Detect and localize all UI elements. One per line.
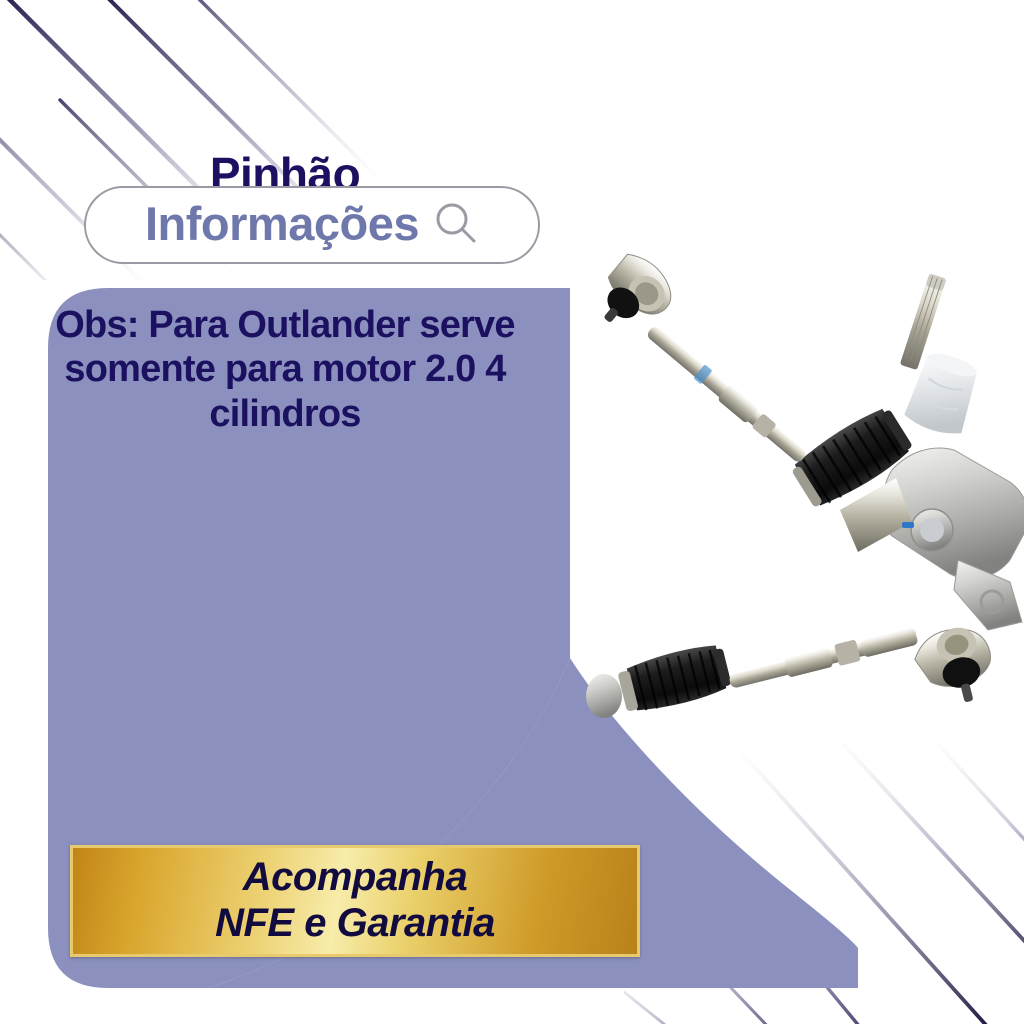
promo-card: Informações — [0, 0, 1024, 1024]
gold-banner-text: Acompanha NFE e Garantia — [215, 855, 495, 946]
magnifier-icon — [433, 201, 479, 252]
product-note: Obs: Para Outlander serve somente para m… — [0, 303, 570, 435]
informacoes-pill[interactable]: Informações — [84, 186, 540, 264]
informacoes-label: Informações — [145, 200, 419, 251]
gold-guarantee-banner: Acompanha NFE e Garantia — [70, 845, 640, 957]
